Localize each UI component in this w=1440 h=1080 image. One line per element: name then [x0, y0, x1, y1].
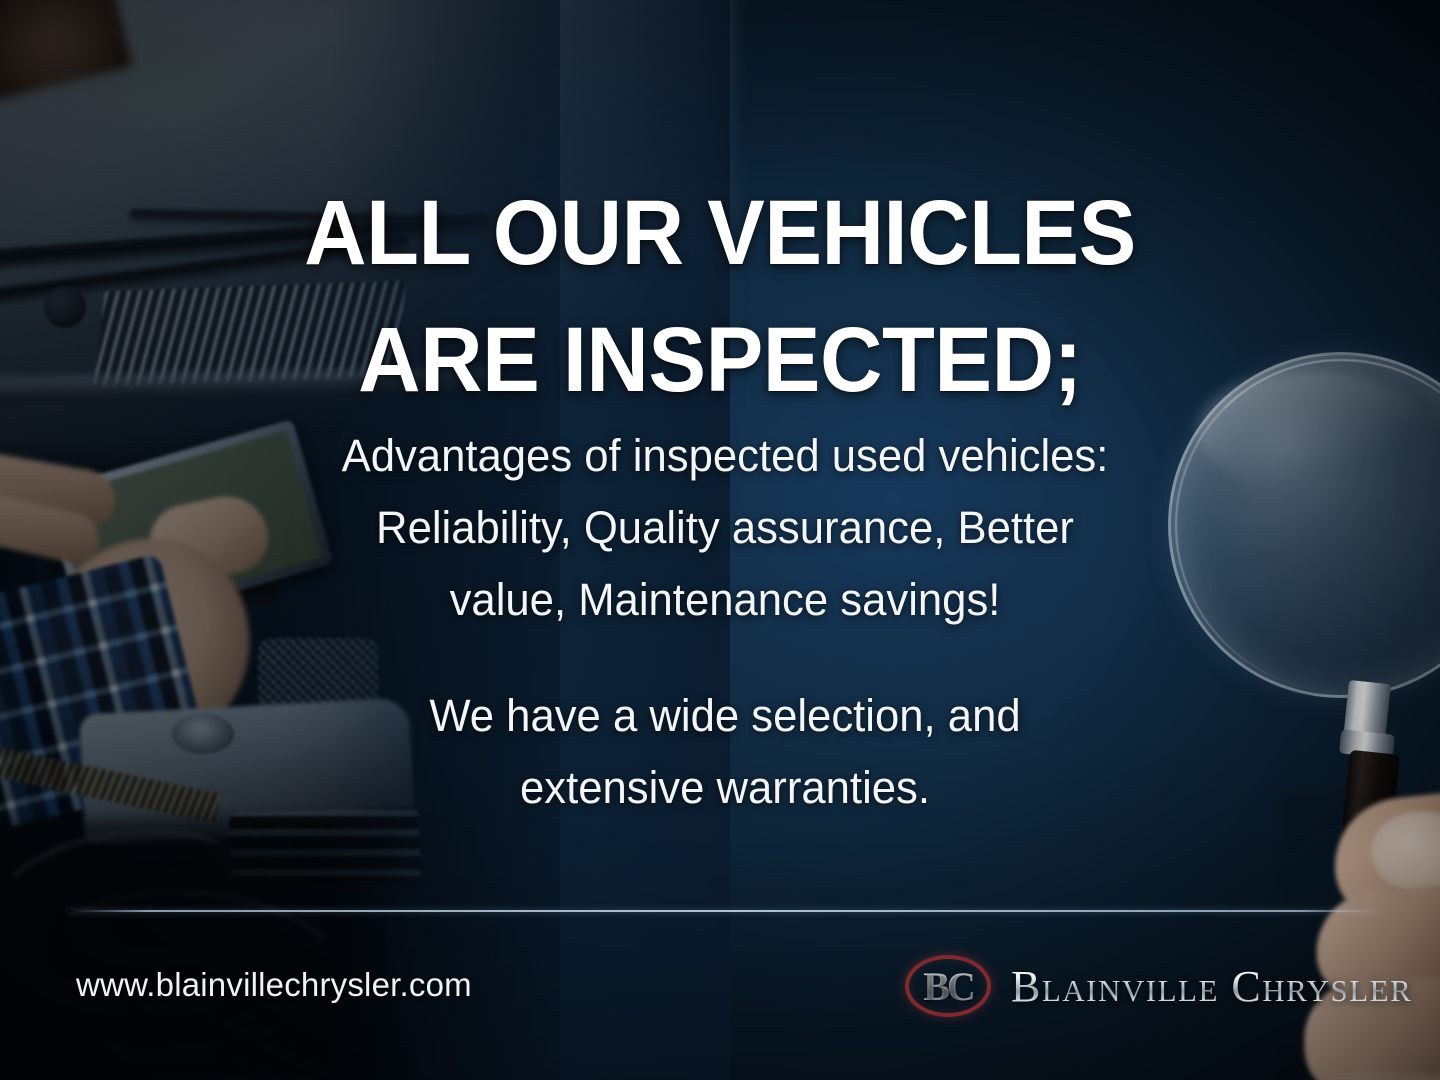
website-url[interactable]: www.blainvillechrysler.com [76, 966, 472, 1004]
slide-canvas: ALL OUR VEHICLES ARE INSPECTED; Advantag… [0, 0, 1440, 1080]
logo-monogram-badge: BC [905, 955, 991, 1017]
logo-wordmark: Blainville Chrysler [1011, 961, 1412, 1012]
body-copy: Advantages of inspected used vehicles: R… [264, 420, 1186, 824]
footer-divider [68, 910, 1380, 912]
body-paragraph-advantages: Advantages of inspected used vehicles: R… [264, 420, 1186, 636]
hand-shadow [1278, 792, 1440, 1080]
body-paragraph-selection: We have a wide selection, and extensive … [264, 680, 1186, 824]
page-title: ALL OUR VEHICLES ARE INSPECTED; [43, 170, 1397, 424]
brand-logo[interactable]: BC Blainville Chrysler [905, 955, 1412, 1017]
logo-initials: BC [923, 963, 973, 1010]
